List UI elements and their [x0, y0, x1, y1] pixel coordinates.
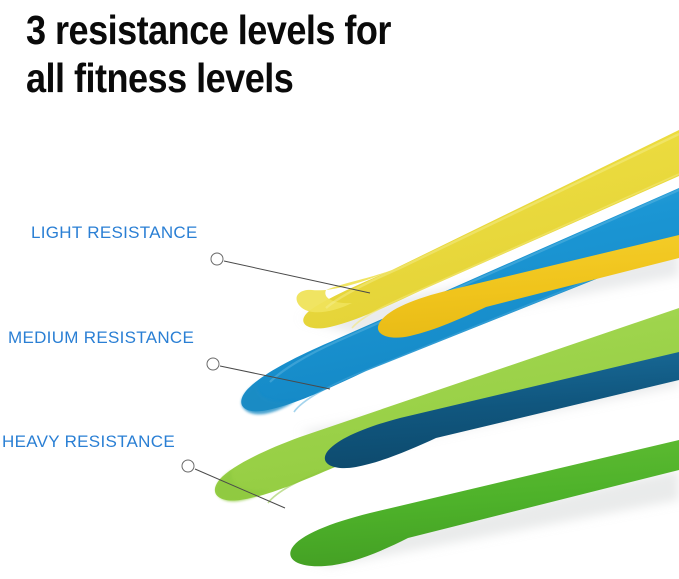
callout-leader-heavy	[182, 460, 285, 508]
product-feature-image: 3 resistance levels for all fitness leve…	[0, 0, 679, 579]
callout-leader-light	[211, 253, 370, 293]
callout-label-heavy: HEAVY RESISTANCE	[2, 432, 175, 452]
leader-line-light	[224, 261, 370, 293]
leader-line-heavy	[195, 469, 285, 508]
callout-marker-medium	[207, 358, 219, 370]
callout-label-medium: MEDIUM RESISTANCE	[8, 328, 194, 348]
callout-leader-lines	[0, 0, 679, 579]
callout-marker-heavy	[182, 460, 194, 472]
callout-marker-light	[211, 253, 223, 265]
callout-label-light: LIGHT RESISTANCE	[31, 223, 198, 243]
callout-leader-medium	[207, 358, 330, 389]
leader-line-medium	[220, 366, 330, 389]
